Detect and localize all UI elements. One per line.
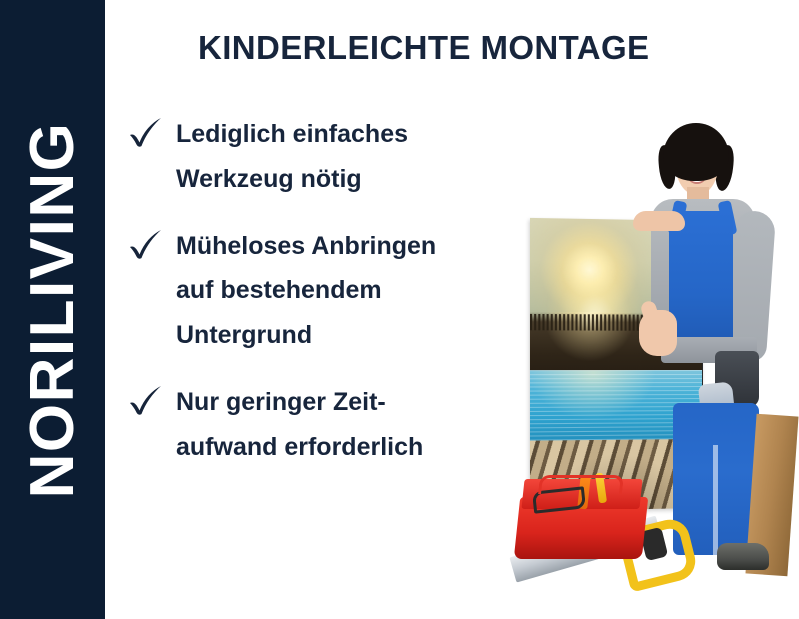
trouser-seam [713,445,718,555]
hair-top [663,123,729,181]
product-photo [497,115,799,595]
work-shoe [717,543,769,570]
toolbox-handle [538,475,624,494]
list-item-text: Lediglich einfaches Werkzeug nötig [166,112,516,202]
thumbs-up-hand [639,310,677,356]
list-item: Müheloses Anbringen auf bestehendem Unte… [126,224,516,358]
check-icon [126,382,166,422]
check-icon [126,226,166,266]
promo-banner: NORILIVING KINDERLEICHTE MONTAGE Ledigli… [0,0,799,619]
list-item-line: Lediglich einfaches [176,112,516,157]
list-item: Nur geringer Zeit- aufwand erforderlich [126,380,516,470]
hand-top-of-canvas [633,211,685,231]
list-item-text: Nur geringer Zeit- aufwand erforderlich [166,380,516,470]
list-item-line: Untergrund [176,313,516,358]
benefits-list: Lediglich einfaches Werkzeug nötig Mühel… [126,112,516,491]
list-item-line: Müheloses Anbringen [176,224,516,269]
check-icon [126,114,166,154]
overall-bib [669,211,733,351]
brand-sidebar: NORILIVING [0,0,105,619]
list-item-line: Werkzeug nötig [176,157,516,202]
toolbox-group [517,471,667,567]
page-title: KINDERLEICHTE MONTAGE [198,30,649,66]
list-item-line: Nur geringer Zeit- [176,380,516,425]
brand-name: NORILIVING [22,121,84,498]
list-item-line: aufwand erforderlich [176,425,516,470]
list-item-text: Müheloses Anbringen auf bestehendem Unte… [166,224,516,358]
list-item: Lediglich einfaches Werkzeug nötig [126,112,516,202]
list-item-line: auf bestehendem [176,268,516,313]
